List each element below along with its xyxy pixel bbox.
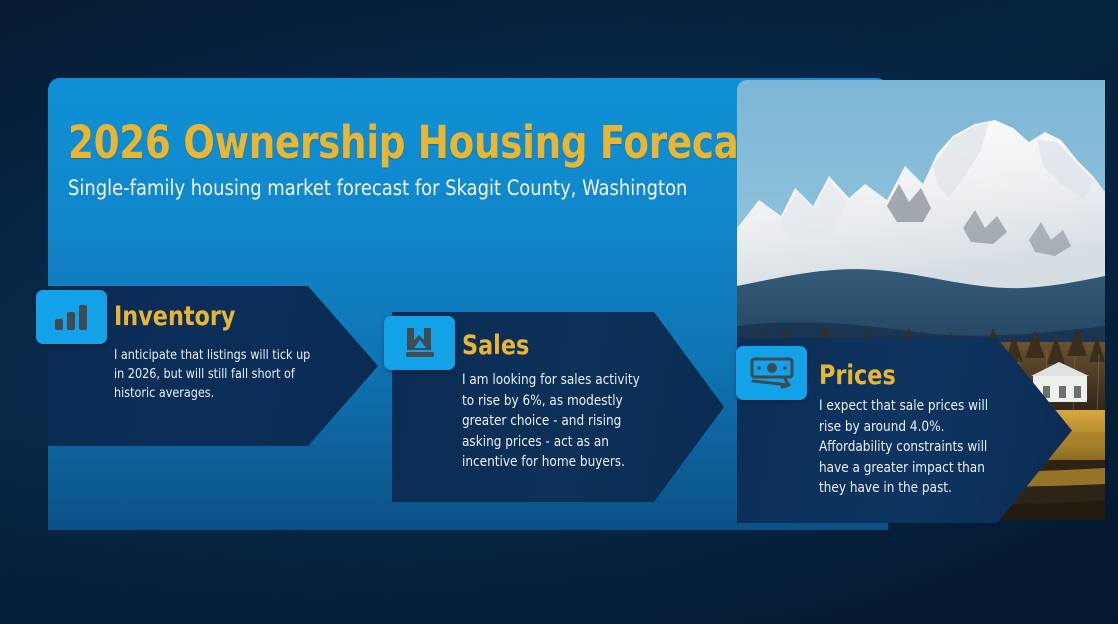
book-chart-icon-glyph: [402, 326, 438, 360]
bar-chart-icon: [36, 290, 107, 344]
section-banner-inventory: Inventory I anticipate that listings wil…: [48, 286, 378, 446]
banknote-icon: [736, 346, 807, 400]
page-subtitle: Single-family housing market forecast fo…: [68, 176, 687, 200]
section-banner-prices: Prices I expect that sale prices will ri…: [737, 338, 1072, 523]
section-banner-sales: Sales I am looking for sales activity to…: [392, 312, 724, 502]
page-title: 2026 Ownership Housing Forecast: [68, 116, 778, 169]
book-chart-icon: [384, 316, 455, 370]
section-body-prices: I expect that sale prices will rise by a…: [819, 396, 997, 499]
infographic-slide: 2026 Ownership Housing Forecast Single-f…: [0, 0, 1118, 624]
section-title-sales: Sales: [462, 330, 529, 361]
section-body-sales: I am looking for sales activity to rise …: [462, 370, 654, 473]
section-title-prices: Prices: [819, 360, 896, 391]
banknote-icon-glyph: [749, 356, 795, 390]
section-title-inventory: Inventory: [114, 301, 235, 332]
section-body-inventory: I anticipate that listings will tick up …: [114, 346, 311, 403]
bar-chart-icon-glyph: [52, 302, 92, 332]
